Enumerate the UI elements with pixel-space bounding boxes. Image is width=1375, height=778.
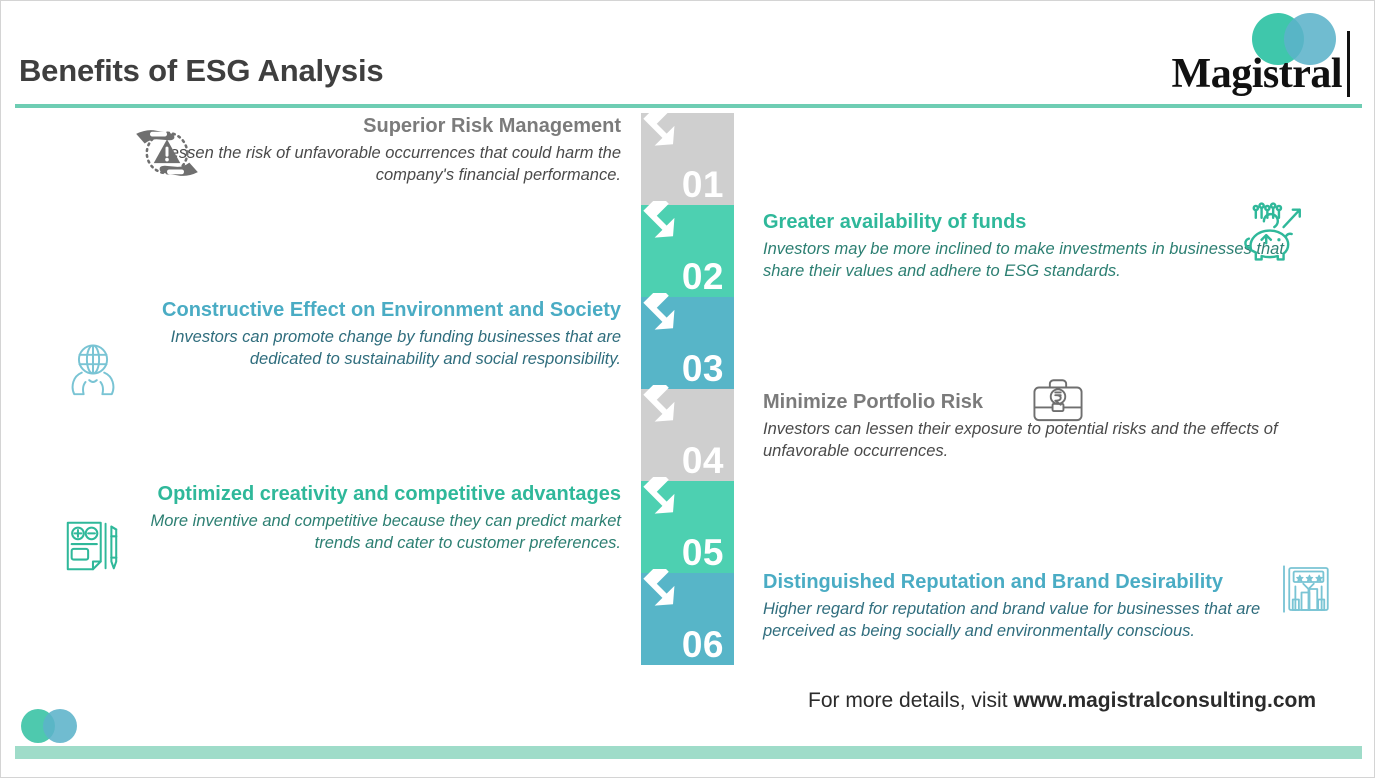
benefit-number-block: 04 bbox=[641, 389, 734, 481]
benefit-description: Investors can lessen their exposure to p… bbox=[763, 418, 1293, 463]
briefcase-rupee-icon bbox=[1029, 373, 1087, 431]
benefit-number-column: 01 02 03 04 05 06 bbox=[641, 113, 734, 665]
benefit-row: Minimize Portfolio RiskInvestors can les… bbox=[763, 391, 1293, 463]
footer-logo-circle-right-icon bbox=[43, 709, 77, 743]
benefit-number-label: 04 bbox=[682, 442, 724, 479]
benefit-row: Greater availability of fundsInvestors m… bbox=[763, 211, 1293, 283]
benefit-row: Distinguished Reputation and Brand Desir… bbox=[763, 571, 1293, 643]
benefit-number-label: 01 bbox=[682, 166, 724, 203]
globe-in-hands-icon bbox=[63, 337, 123, 397]
hands-warning-triangle-icon bbox=[133, 119, 201, 187]
slide-header: Benefits of ESG Analysis Magistral bbox=[1, 1, 1374, 107]
benefit-title: Minimize Portfolio Risk bbox=[763, 391, 1293, 414]
benefit-description: Higher regard for reputation and brand v… bbox=[763, 598, 1293, 643]
footer-cta: For more details, visit www.magistralcon… bbox=[808, 689, 1316, 713]
brand-logo: Magistral bbox=[1156, 9, 1356, 101]
piggy-bank-growth-icon bbox=[1235, 197, 1309, 271]
benefit-number-label: 03 bbox=[682, 350, 724, 387]
benefit-title: Constructive Effect on Environment and S… bbox=[121, 299, 621, 322]
benefit-title: Greater availability of funds bbox=[763, 211, 1293, 234]
footer-cta-prefix: For more details, visit bbox=[808, 689, 1013, 712]
benefit-title: Distinguished Reputation and Brand Desir… bbox=[763, 571, 1293, 594]
footer-accent-bar bbox=[15, 746, 1362, 759]
benefit-number-label: 05 bbox=[682, 534, 724, 571]
arrow-down-right-icon bbox=[638, 385, 684, 431]
arrow-down-right-icon bbox=[638, 109, 684, 155]
notepad-pencil-icon bbox=[61, 515, 123, 577]
footer-logo-mark bbox=[21, 709, 83, 743]
arrow-down-right-icon bbox=[638, 477, 684, 523]
rated-building-stars-icon bbox=[1277, 561, 1333, 617]
header-divider bbox=[15, 104, 1362, 108]
benefit-number-block: 01 bbox=[641, 113, 734, 205]
logo-vertical-bar-icon bbox=[1347, 31, 1350, 97]
benefit-row: Optimized creativity and competitive adv… bbox=[121, 483, 621, 555]
logo-wordmark: Magistral bbox=[1156, 53, 1356, 95]
footer-website-link[interactable]: www.magistralconsulting.com bbox=[1013, 689, 1316, 712]
benefit-number-block: 03 bbox=[641, 297, 734, 389]
benefit-row: Constructive Effect on Environment and S… bbox=[121, 299, 621, 371]
benefit-description: Investors may be more inclined to make i… bbox=[763, 238, 1293, 283]
benefit-number-label: 02 bbox=[682, 258, 724, 295]
slide-canvas: Benefits of ESG Analysis Magistral 01 02… bbox=[0, 0, 1375, 778]
page-title: Benefits of ESG Analysis bbox=[19, 53, 383, 89]
benefit-number-block: 02 bbox=[641, 205, 734, 297]
arrow-down-right-icon bbox=[638, 569, 684, 615]
benefit-number-label: 06 bbox=[682, 626, 724, 663]
benefit-description: Investors can promote change by funding … bbox=[121, 326, 621, 371]
benefit-title: Optimized creativity and competitive adv… bbox=[121, 483, 621, 506]
benefit-description: More inventive and competitive because t… bbox=[121, 510, 621, 555]
arrow-down-right-icon bbox=[638, 293, 684, 339]
arrow-down-right-icon bbox=[638, 201, 684, 247]
benefit-number-block: 05 bbox=[641, 481, 734, 573]
benefit-number-block: 06 bbox=[641, 573, 734, 665]
